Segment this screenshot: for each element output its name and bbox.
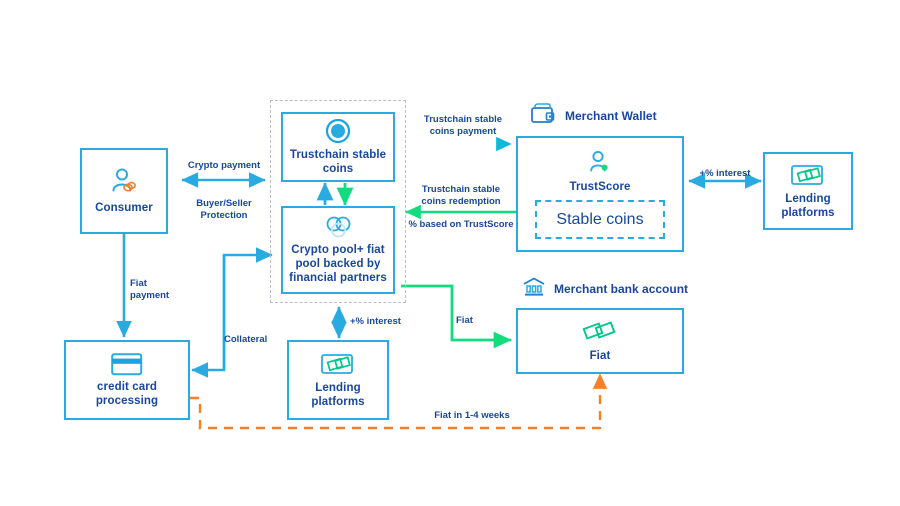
user-status-icon (588, 150, 612, 176)
node-label: Consumer (95, 201, 153, 215)
edge-collateral-down (192, 255, 224, 370)
banknotes-card-icon (791, 162, 825, 188)
node-credit-card-processing[interactable]: credit card processing (64, 340, 190, 420)
edge-label-fiat-flow: Fiat (456, 315, 496, 327)
edge-label-trustchain-redemption: Trustchain stable coins redemption (405, 184, 517, 208)
connectors-layer (0, 0, 900, 506)
node-trustchain-stable-coins[interactable]: Trustchain stable coins (281, 112, 395, 182)
node-lending-platforms-left[interactable]: Lending platforms (287, 340, 389, 420)
edge-fiat-flow (401, 286, 511, 340)
node-label: Fiat (590, 349, 611, 363)
coin-icon (325, 118, 351, 144)
edge-collateral-up (224, 255, 272, 370)
edge-label-fiat-weeks: Fiat in 1-4 weeks (417, 410, 527, 422)
banknotes-card-icon (321, 351, 355, 377)
banknotes-icon (582, 319, 618, 345)
node-label: Lending platforms (765, 192, 851, 220)
edge-label-interest-right: +% interest (689, 168, 761, 180)
edge-label-fiat-payment: Fiat payment (130, 278, 190, 302)
node-stable-coins[interactable]: Stable coins (535, 200, 665, 239)
edge-label-trustchain-payment: Trustchain stable coins payment (408, 114, 518, 138)
edge-label-buyer-seller: Buyer/Seller Protection (184, 198, 264, 222)
edge-label-interest-left: +% interest (350, 316, 414, 328)
edge-label-pct-trustscore: % based on TrustScore (404, 219, 518, 231)
node-label: credit card processing (66, 380, 188, 408)
wallet-icon (531, 102, 557, 126)
header-label: Merchant Wallet (565, 109, 657, 123)
node-label: Stable coins (556, 211, 643, 229)
bank-icon (522, 276, 546, 298)
node-label: Trustchain stable coins (283, 148, 393, 176)
node-crypto-pool[interactable]: Crypto pool+ fiat pool backed by financi… (281, 206, 395, 294)
node-fiat[interactable]: Fiat (516, 308, 684, 374)
venn-circles-icon (322, 215, 354, 239)
credit-card-icon (111, 352, 143, 376)
user-coins-icon (109, 167, 139, 197)
edge-fiat-1-4-weeks (190, 374, 600, 428)
diagram-canvas: Consumer Trustchain stable coins Crypto … (0, 0, 900, 506)
header-merchant-wallet: Merchant Wallet (531, 102, 657, 130)
edge-label-collateral: Collateral (224, 334, 286, 346)
node-label: Crypto pool+ fiat pool backed by financi… (283, 243, 393, 285)
edge-label-crypto-payment: Crypto payment (182, 160, 266, 172)
node-consumer[interactable]: Consumer (80, 148, 168, 234)
node-label: TrustScore (569, 180, 630, 194)
header-label: Merchant bank account (554, 282, 688, 296)
node-lending-platforms-right[interactable]: Lending platforms (763, 152, 853, 230)
header-merchant-bank-account: Merchant bank account (522, 276, 688, 302)
node-label: Lending platforms (289, 381, 387, 409)
